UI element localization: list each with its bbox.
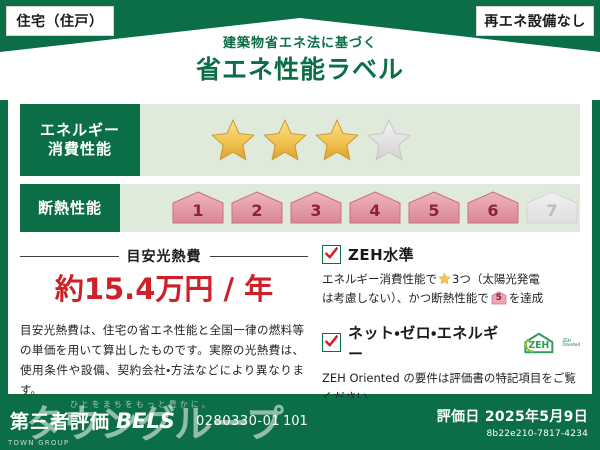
cost-heading: 目安光熱費 [20,246,308,266]
label-card: エネルギー 消費性能 [8,96,592,394]
zeh-column: ZEH水準 エネルギー消費性能で3つ（太陽光発電 は考慮しない）、かつ断熱性能で… [308,242,580,384]
insulation-performance-key-line1: 断熱性能 [38,199,102,218]
star-icon-filled-2 [262,117,308,163]
insulation-level-7: 7 [524,190,580,226]
cost-note: 目安光熱費は、住宅の省エネ性能と全国一律の燃料等の単価を用いて算出したものです。… [20,320,308,401]
bels-logo-text: BELS [116,409,175,433]
insulation-level-2-label: 2 [251,203,262,226]
insulation-performance-key: 断熱性能 [20,184,120,232]
zeh-logo-subtext-2: Oriented [563,342,580,347]
title-block: 建築物省エネ法に基づく 省エネ性能ラベル [0,36,600,85]
third-party-label: 第三者評価 [10,407,110,434]
zeh-netzero-block: ネット・ゼロ・エネルギー ZEH ZEH Oriented ZEH Orient… [322,322,580,407]
label-title: 省エネ性能ラベル [0,54,600,85]
badge-renewable-equipment: 再エネ設備なし [476,6,594,36]
cost-heading-rule-left [20,256,119,257]
star-icon-empty-4 [366,117,412,163]
insulation-performance-value: 1 2 3 [120,184,580,232]
insulation-level-7-label: 7 [546,203,557,226]
badge-building-type: 住宅（住戸） [6,6,114,36]
zeh-standard-body: エネルギー消費性能で3つ（太陽光発電 は考慮しない）、かつ断熱性能で5を達成 [322,270,580,308]
unit-number: 101 [283,414,308,429]
insulation-level-1-label: 1 [192,203,203,226]
zeh-standard-title-row: ZEH水準 [322,244,580,265]
zeh-standard-body-part2: 3つ（太陽光発電 [452,272,540,286]
zeh-standard-body-part4: を達成 [509,291,544,305]
insulation-level-2: 2 [229,190,285,226]
certificate-number: 0280330-01 [196,414,280,429]
insulation-level-3: 3 [288,190,344,226]
check-icon [324,334,339,349]
star-icon-inline [438,272,451,285]
footer-date-block: 評価日 2025年5月9日 8b22e210-7817-4234 [437,406,588,439]
insulation-level-4: 4 [347,190,403,226]
badge-renewable-equipment-label: 再エネ設備なし [484,11,586,31]
cost-column: 目安光熱費 約15.4万円 / 年 目安光熱費は、住宅の省エネ性能と全国一律の燃… [20,242,308,384]
insulation-level-5: 5 [406,190,462,226]
insulation-performance-row: 断熱性能 1 [20,184,580,232]
svg-text:ZEH: ZEH [528,340,549,351]
star-icon-filled-3 [314,117,360,163]
zeh-standard-block: ZEH水準 エネルギー消費性能で3つ（太陽光発電 は考慮しない）、かつ断熱性能で… [322,244,580,308]
star-rating [140,117,412,163]
energy-performance-row: エネルギー 消費性能 [20,104,580,176]
zeh-netzero-checkbox[interactable] [322,333,341,352]
zeh-standard-body-part1: エネルギー消費性能で [322,272,437,286]
label-subtitle: 建築物省エネ法に基づく [0,36,600,52]
evaluation-date-value: 2025年5月9日 [485,409,588,425]
footer-bar: 第三者評価 BELS 0280330-01 101 評価日 2025年5月9日 … [0,398,600,450]
insulation-level-scale: 1 2 3 [120,190,580,226]
star-icon-filled-1 [210,117,256,163]
zeh-house-logo-icon: ZEH [522,331,556,355]
insulation-level-4-label: 4 [369,203,380,226]
insulation-level-1: 1 [170,190,226,226]
zeh-standard-checkbox[interactable] [322,245,341,264]
energy-performance-key: エネルギー 消費性能 [20,104,140,176]
evaluation-date: 評価日 2025年5月9日 [437,406,588,426]
cost-amount: 約15.4万円 / 年 [20,274,308,306]
zeh-standard-title: ZEH水準 [348,244,414,265]
insulation-level-6-label: 6 [487,203,498,226]
check-icon [324,246,339,261]
lower-section: 目安光熱費 約15.4万円 / 年 目安光熱費は、住宅の省エネ性能と全国一律の燃… [20,242,580,384]
zeh-netzero-title: ネット・ゼロ・エネルギー [348,322,513,364]
energy-performance-value [140,104,580,176]
zeh-standard-body-part3: は考慮しない）、かつ断熱性能で [322,291,489,305]
badge-building-type-label: 住宅（住戸） [17,11,104,31]
cost-heading-rule-right [210,256,309,257]
zeh-netzero-title-row: ネット・ゼロ・エネルギー ZEH ZEH Oriented [322,322,580,364]
record-id: 8b22e210-7817-4234 [437,429,588,439]
evaluation-date-label: 評価日 [437,409,480,425]
cost-heading-label: 目安光熱費 [127,246,202,266]
insulation-level-5-label: 5 [428,203,439,226]
zeh-logo-subtext: ZEH Oriented [563,339,580,348]
insulation-level-6: 6 [465,190,521,226]
energy-performance-key-line1: エネルギー [40,121,120,140]
insulation-level-3-label: 3 [310,203,321,226]
energy-performance-label: 住宅（住戸） 再エネ設備なし 建築物省エネ法に基づく 省エネ性能ラベル エネルギ… [0,0,600,450]
insulation-chip-inline: 5 [491,291,507,305]
insulation-chip-inline-label: 5 [491,292,507,305]
footer-certification: 第三者評価 BELS [10,407,175,434]
energy-performance-key-line2: 消費性能 [48,140,112,159]
